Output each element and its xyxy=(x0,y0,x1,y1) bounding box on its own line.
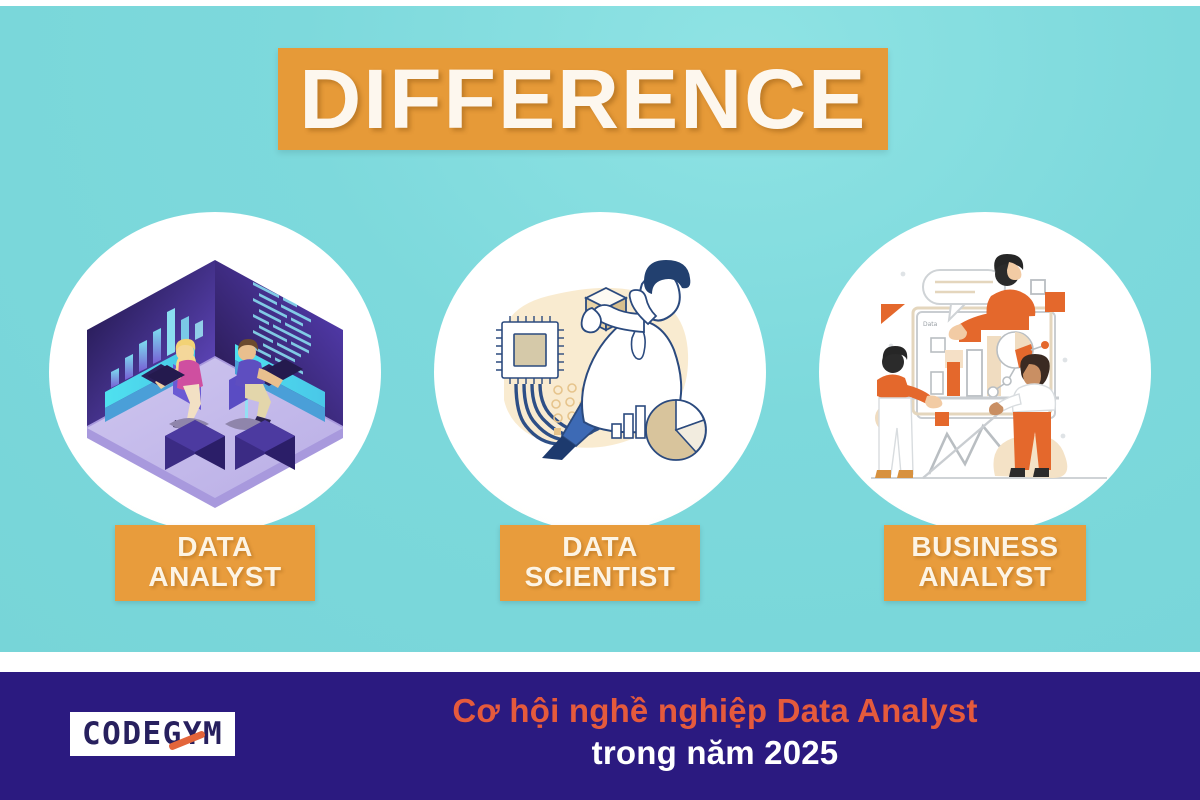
svg-text:Data: Data xyxy=(923,321,938,328)
badge-business-analyst: BUSINESS ANALYST xyxy=(884,525,1086,601)
footer-headline: Cơ hội nghề nghiệp Data Analyst trong nă… xyxy=(300,690,1130,774)
logo-wrap: CODEGYM xyxy=(82,719,223,750)
badge-line-2: SCIENTIST xyxy=(518,562,682,592)
codegym-logo[interactable]: CODEGYM xyxy=(70,712,235,756)
illustration-circle-data-scientist xyxy=(434,212,766,532)
badge-line-1: DATA xyxy=(133,532,297,562)
scientist-with-cube-and-cpu-icon xyxy=(434,212,766,532)
isometric-office-two-analysts-dashboard-icon xyxy=(49,212,381,532)
poster-root: DIFFERENCE xyxy=(0,0,1200,800)
illustration-circle-business-analyst: Data xyxy=(819,212,1151,532)
badge-line-2: ANALYST xyxy=(133,562,297,592)
footer-headline-line-2: trong năm 2025 xyxy=(300,732,1130,774)
page-title: DIFFERENCE xyxy=(299,57,867,141)
badge-line-1: BUSINESS xyxy=(902,532,1068,562)
card-business-analyst[interactable]: Data xyxy=(818,200,1153,532)
card-data-scientist[interactable]: DATA SCIENTIST xyxy=(433,200,768,532)
cards-row: DATA ANALYST xyxy=(0,200,1200,600)
card-data-analyst[interactable]: DATA ANALYST xyxy=(48,200,383,532)
badge-data-scientist: DATA SCIENTIST xyxy=(500,525,700,601)
badge-line-2: ANALYST xyxy=(902,562,1068,592)
illustration-circle-data-analyst xyxy=(49,212,381,532)
team-reviewing-dashboard-whiteboard-icon: Data xyxy=(819,212,1151,532)
badge-line-1: DATA xyxy=(518,532,682,562)
stage-footer-divider xyxy=(0,652,1200,673)
badge-data-analyst: DATA ANALYST xyxy=(115,525,315,601)
footer-headline-line-1: Cơ hội nghề nghiệp Data Analyst xyxy=(300,690,1130,732)
title-banner: DIFFERENCE xyxy=(278,48,888,150)
